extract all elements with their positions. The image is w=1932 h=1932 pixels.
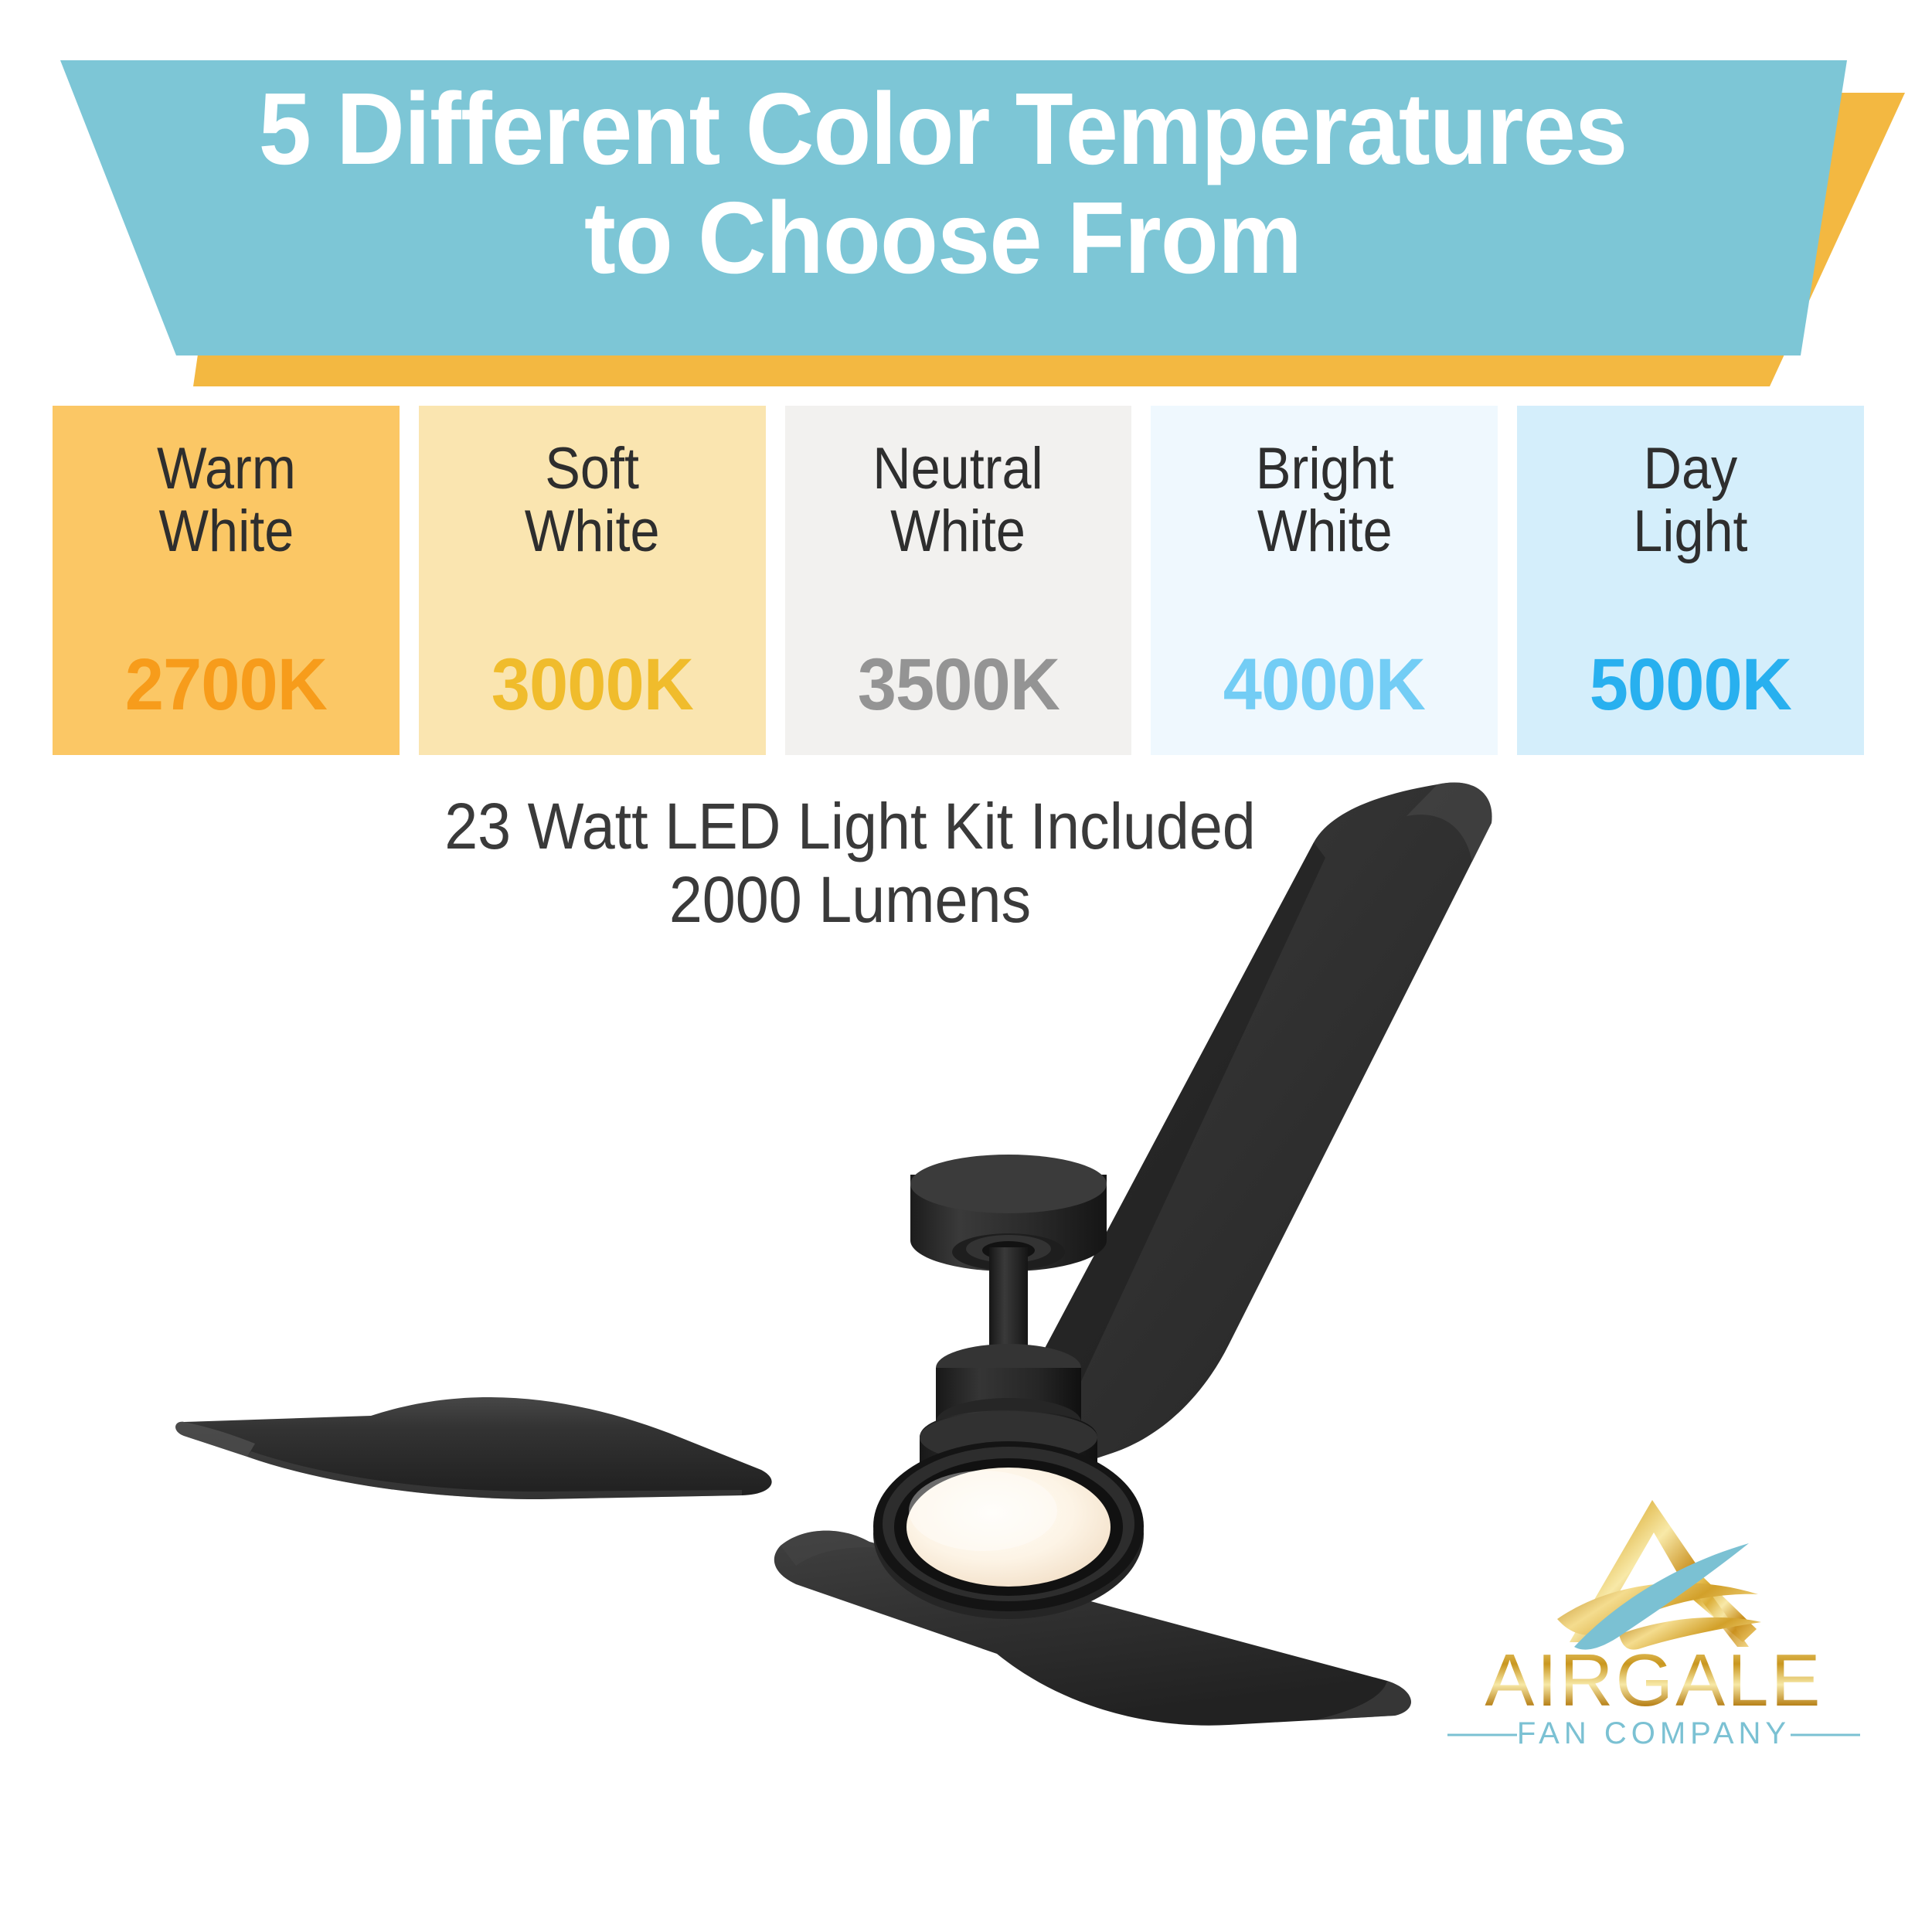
temp-card-label: Soft White — [525, 438, 660, 563]
temp-card-label: Bright White — [1255, 438, 1393, 563]
logo-wordmark: AIRGALE — [1485, 1639, 1822, 1722]
fan-blade-left — [175, 1397, 772, 1499]
temp-card-kelvin-value: 2700K — [61, 643, 390, 727]
temp-card-kelvin-value: 4000K — [1160, 643, 1489, 727]
color-temperature-grid: Warm White 2700K Soft White 3000K Neutra… — [53, 406, 1864, 755]
brand-logo: AIRGALE FAN COMPANY — [1434, 1495, 1874, 1762]
temp-card-neutral-white[interactable]: Neutral White 3500K — [785, 406, 1132, 755]
product-infographic: 5 Different Color Temperatures to Choose… — [0, 0, 1932, 1932]
temp-card-soft-white[interactable]: Soft White 3000K — [419, 406, 766, 755]
logo-tagline: FAN COMPANY — [1517, 1716, 1791, 1750]
temp-card-label: Day Light — [1633, 438, 1747, 563]
header-banner: 5 Different Color Temperatures to Choose… — [0, 0, 1932, 402]
temp-card-kelvin-value: 3500K — [794, 643, 1123, 727]
fan-light-kit — [873, 1441, 1144, 1619]
temp-card-day-light[interactable]: Day Light 5000K — [1517, 406, 1864, 755]
temp-card-bright-white[interactable]: Bright White 4000K — [1151, 406, 1498, 755]
temp-card-warm-white[interactable]: Warm White 2700K — [53, 406, 400, 755]
temp-card-kelvin-value: 5000K — [1526, 643, 1855, 727]
temp-card-label: Warm White — [156, 438, 295, 563]
temp-card-label: Neutral White — [873, 438, 1044, 563]
temp-card-kelvin-value: 3000K — [427, 643, 757, 727]
page-title: 5 Different Color Temperatures to Choose… — [159, 74, 1726, 292]
